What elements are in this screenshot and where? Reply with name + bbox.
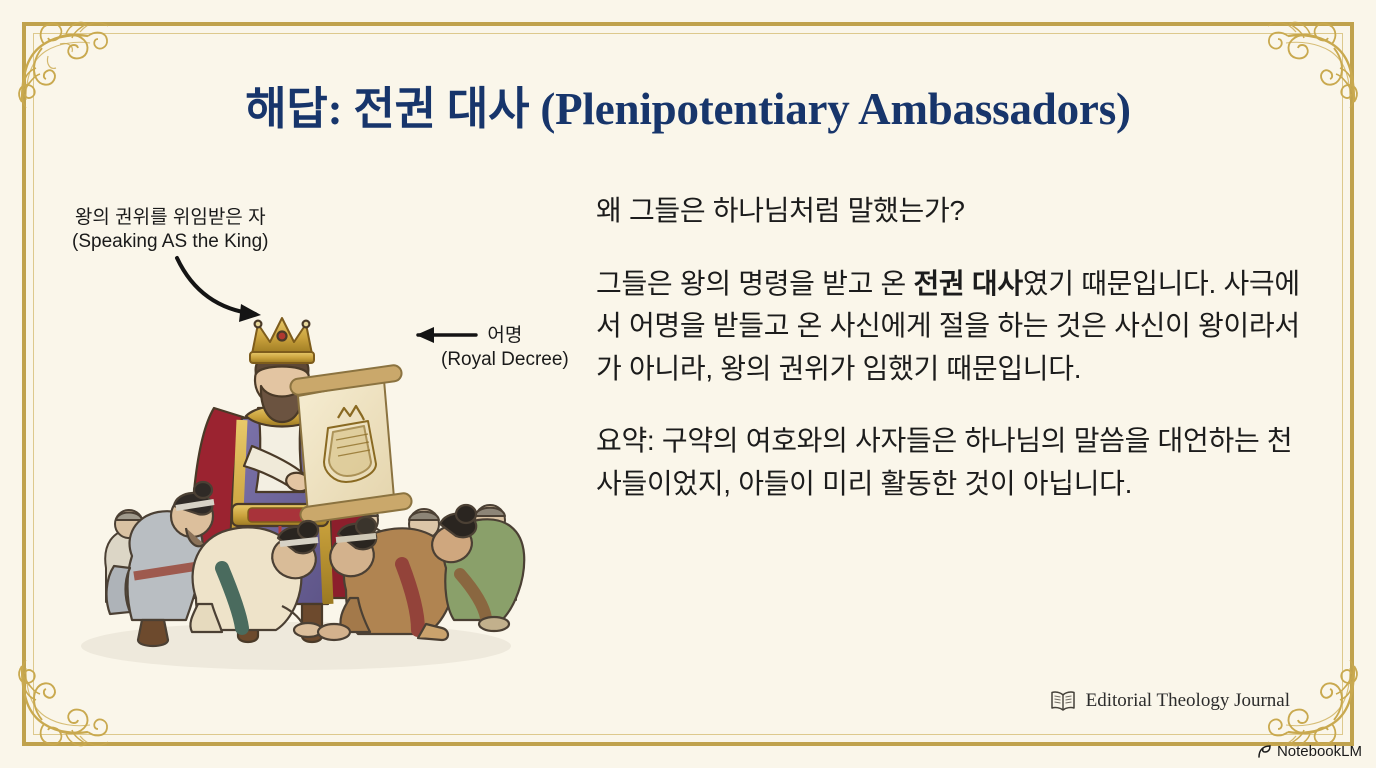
paragraph-question: 왜 그들은 하나님처럼 말했는가?: [596, 190, 1308, 233]
open-book-icon: [1050, 690, 1076, 712]
watermark-label: NotebookLM: [1277, 743, 1362, 760]
annotation-king-label-en: (Speaking AS the King): [72, 230, 268, 254]
paragraph-summary: 요약: 구약의 여호와의 사자들은 하나님의 말씀을 대언하는 천사들이었지, …: [596, 420, 1308, 505]
slide-canvas: 해답: 전권 대사 (Plenipotentiary Ambassadors) …: [0, 0, 1376, 768]
paragraph-explanation: 그들은 왕의 명령을 받고 온 전권 대사였기 때문입니다. 사극에서 어명을 …: [596, 263, 1308, 391]
body-text-column: 왜 그들은 하나님처럼 말했는가? 그들은 왕의 명령을 받고 온 전권 대사였…: [596, 190, 1308, 505]
annotation-king-label-ko: 왕의 권위를 위임받은 자: [72, 206, 268, 230]
illustration-king-and-subjects: [46, 268, 546, 688]
notebooklm-watermark: NotebookLM: [1257, 743, 1362, 760]
royal-decree-scroll: [289, 364, 412, 523]
brand-footer: Editorial Theology Journal: [1050, 690, 1290, 712]
page-title-container: 해답: 전권 대사 (Plenipotentiary Ambassadors): [0, 72, 1376, 137]
annotation-king: 왕의 권위를 위임받은 자 (Speaking AS the King): [72, 206, 268, 255]
illustration-column: 왕의 권위를 위임받은 자 (Speaking AS the King) 어명 …: [46, 182, 576, 682]
brand-label: Editorial Theology Journal: [1086, 690, 1290, 712]
page-title: 해답: 전권 대사 (Plenipotentiary Ambassadors): [0, 72, 1376, 137]
notebooklm-spiral-icon: [1257, 744, 1272, 759]
